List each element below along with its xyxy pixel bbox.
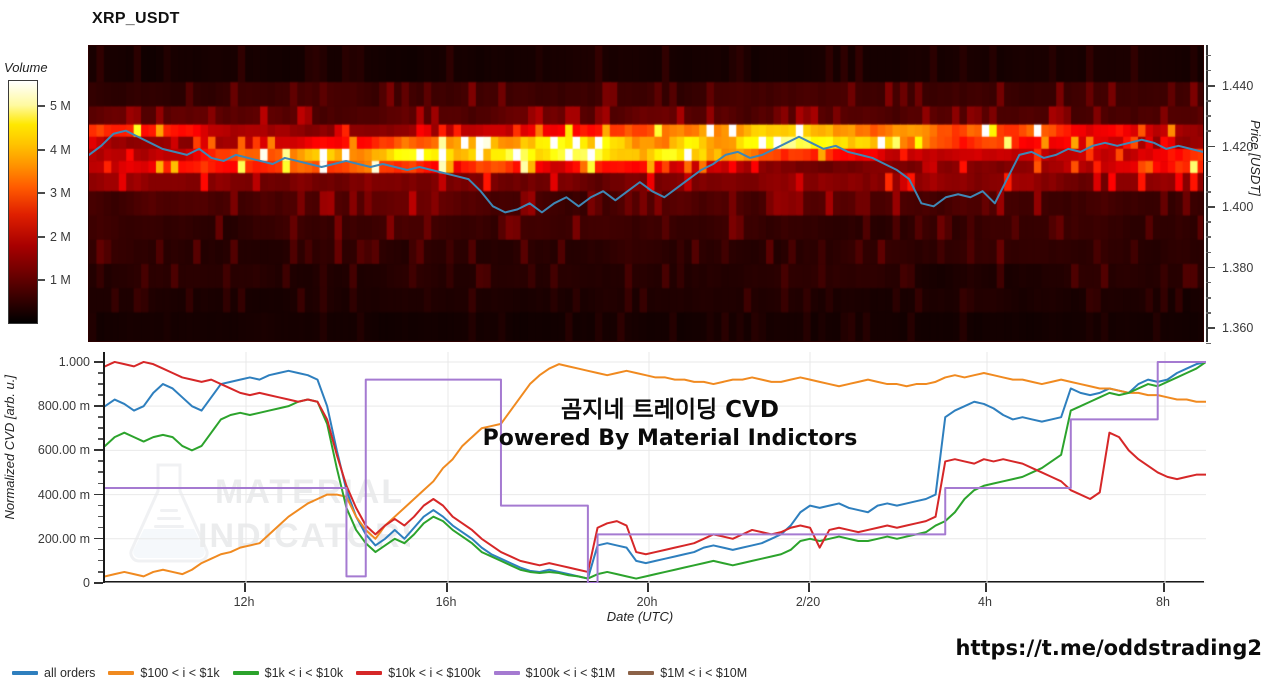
cvd-minor-tick [98, 471, 103, 473]
price-tick-label: 1.380 [1222, 261, 1253, 275]
cvd-major-tick [94, 449, 103, 451]
price-tick-label: 1.440 [1222, 79, 1253, 93]
x-axis-tick [985, 583, 987, 592]
cvd-minor-tick [98, 427, 103, 429]
colorbar-tick [38, 149, 45, 151]
colorbar-tick [38, 192, 45, 194]
cvd-minor-tick [98, 549, 103, 551]
legend-item[interactable]: $1M < i < $10M [628, 666, 747, 680]
cvd-axis-title: Normalized CVD [arb. u.] [2, 375, 17, 520]
x-axis-tick-label: 16h [436, 595, 457, 609]
x-axis-tick-label: 8h [1156, 595, 1170, 609]
colorbar-tick [38, 279, 45, 281]
cvd-minor-tick [98, 560, 103, 562]
cvd-tick-label: 1.000 [4, 355, 90, 369]
price-major-tick [1206, 327, 1215, 329]
price-major-tick [1206, 206, 1215, 208]
cvd-chart[interactable]: MATERIAL INDICATORS [103, 352, 1204, 583]
colorbar-tick-label: 2 M [50, 230, 71, 244]
legend-label: all orders [44, 666, 95, 680]
cvd-major-tick [94, 405, 103, 407]
legend-swatch-icon [356, 671, 382, 675]
price-major-tick [1206, 146, 1215, 148]
price-minor-tick [1206, 312, 1211, 314]
price-minor-tick [1206, 100, 1211, 102]
legend-item[interactable]: all orders [12, 666, 95, 680]
legend-swatch-icon [233, 671, 259, 675]
cvd-minor-tick [98, 516, 103, 518]
price-minor-tick [1206, 297, 1211, 299]
colorbar-tick-label: 3 M [50, 186, 71, 200]
colorbar-title: Volume [4, 60, 48, 75]
cvd-tick-label: 0 [4, 576, 90, 590]
price-tick-label: 1.400 [1222, 200, 1253, 214]
legend-label: $1M < i < $10M [660, 666, 747, 680]
figure-root: XRP_USDT Volume 5 M4 M3 M2 M1 M 1.4401.4… [0, 0, 1280, 694]
x-axis-tick [647, 583, 649, 592]
legend-item[interactable]: $10k < i < $100k [356, 666, 480, 680]
legend-item[interactable]: $100k < i < $1M [494, 666, 616, 680]
cvd-minor-tick [98, 416, 103, 418]
price-major-tick [1206, 267, 1215, 269]
price-minor-tick [1206, 55, 1211, 57]
cvd-major-tick [94, 538, 103, 540]
price-minor-tick [1206, 130, 1211, 132]
x-axis-tick-label: 20h [637, 595, 658, 609]
telegram-url[interactable]: https://t.me/oddstrading2 [956, 636, 1263, 660]
price-minor-tick [1206, 282, 1211, 284]
cvd-minor-tick [98, 394, 103, 396]
colorbar-tick [38, 105, 45, 107]
price-minor-tick [1206, 115, 1211, 117]
legend-label: $100 < i < $1k [140, 666, 219, 680]
cvd-major-tick [94, 494, 103, 496]
cvd-series-line [105, 362, 1206, 572]
cvd-minor-tick [98, 372, 103, 374]
cvd-minor-tick [98, 438, 103, 440]
price-line-overlay [89, 46, 1203, 342]
colorbar-tick-label: 4 M [50, 143, 71, 157]
x-axis-tick-label: 12h [234, 595, 255, 609]
price-minor-tick [1206, 70, 1211, 72]
liquidity-heatmap[interactable] [88, 45, 1204, 342]
cvd-minor-tick [98, 505, 103, 507]
legend-swatch-icon [12, 671, 38, 675]
price-minor-tick [1206, 343, 1211, 345]
legend-label: $10k < i < $100k [388, 666, 480, 680]
price-minor-tick [1206, 161, 1211, 163]
cvd-major-tick [94, 582, 103, 584]
legend-label: $100k < i < $1M [526, 666, 616, 680]
cvd-minor-tick [98, 527, 103, 529]
colorbar-tick-label: 5 M [50, 99, 71, 113]
colorbar-tick [38, 236, 45, 238]
overlay-line1: 곰지네 트레이딩 CVD [430, 396, 910, 425]
legend-swatch-icon [108, 671, 134, 675]
legend-label: $1k < i < $10k [265, 666, 344, 680]
x-axis-tick-label: 2/20 [796, 595, 820, 609]
price-major-tick [1206, 85, 1215, 87]
price-axis-title: Price [USDT] [1248, 120, 1263, 196]
x-axis-tick [1163, 583, 1165, 592]
price-tick-label: 1.360 [1222, 321, 1253, 335]
price-minor-tick [1206, 236, 1211, 238]
cvd-minor-tick [98, 571, 103, 573]
x-axis-tick [808, 583, 810, 592]
page-title: XRP_USDT [92, 10, 180, 28]
x-axis-tick-label: 4h [978, 595, 992, 609]
overlay-line2: Powered By Material Indictors [430, 425, 910, 453]
price-minor-tick [1206, 252, 1211, 254]
series-legend: all orders$100 < i < $1k$1k < i < $10k$1… [12, 666, 747, 680]
legend-swatch-icon [494, 671, 520, 675]
overlay-annotation: 곰지네 트레이딩 CVD Powered By Material Indicto… [430, 396, 910, 454]
cvd-minor-tick [98, 460, 103, 462]
price-minor-tick [1206, 191, 1211, 193]
x-axis-tick [446, 583, 448, 592]
cvd-series-svg [105, 352, 1206, 583]
volume-colorbar [8, 80, 38, 324]
colorbar-tick-label: 1 M [50, 273, 71, 287]
x-axis-tick [244, 583, 246, 592]
legend-swatch-icon [628, 671, 654, 675]
cvd-minor-tick [98, 483, 103, 485]
cvd-tick-label: 200.00 m [4, 532, 90, 546]
x-axis-title: Date (UTC) [0, 609, 1280, 624]
price-minor-tick [1206, 221, 1211, 223]
price-minor-tick [1206, 176, 1211, 178]
cvd-minor-tick [98, 383, 103, 385]
cvd-major-tick [94, 361, 103, 363]
legend-item[interactable]: $1k < i < $10k [233, 666, 344, 680]
legend-item[interactable]: $100 < i < $1k [108, 666, 219, 680]
